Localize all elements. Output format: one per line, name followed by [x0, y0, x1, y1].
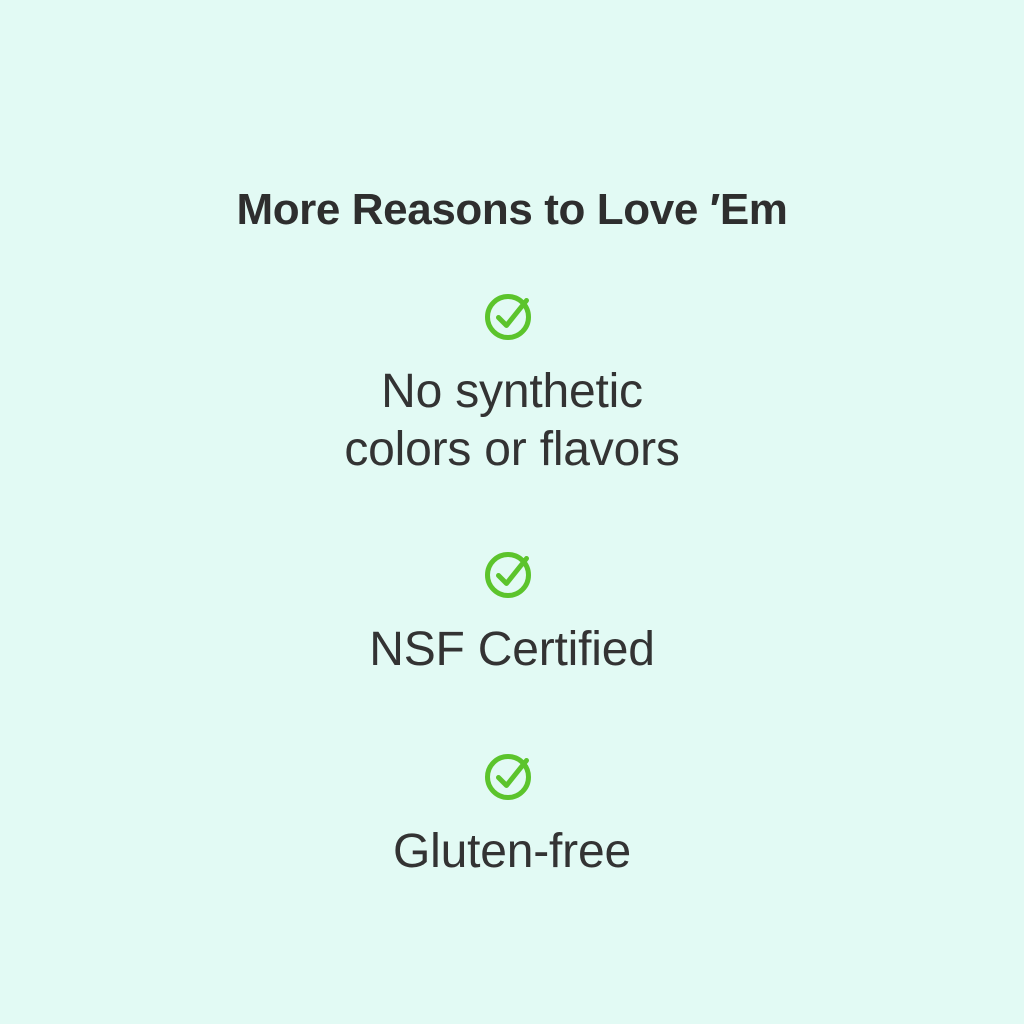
benefits-list: No synthetic colors or flavors NSF Certi…	[0, 234, 1024, 881]
benefit-item: Gluten-free	[0, 751, 1024, 881]
benefit-label: No synthetic colors or flavors	[344, 363, 679, 479]
benefit-item: No synthetic colors or flavors	[0, 291, 1024, 479]
benefit-item: NSF Certified	[0, 549, 1024, 679]
check-circle-icon	[484, 751, 540, 801]
more-reasons-panel: More Reasons to Love ′Em No synthetic co…	[0, 0, 1024, 1024]
page-title: More Reasons to Love ′Em	[236, 186, 787, 234]
check-circle-icon	[484, 549, 540, 599]
benefit-label: Gluten-free	[393, 823, 631, 881]
check-circle-icon	[484, 291, 540, 341]
benefit-label: NSF Certified	[369, 621, 654, 679]
